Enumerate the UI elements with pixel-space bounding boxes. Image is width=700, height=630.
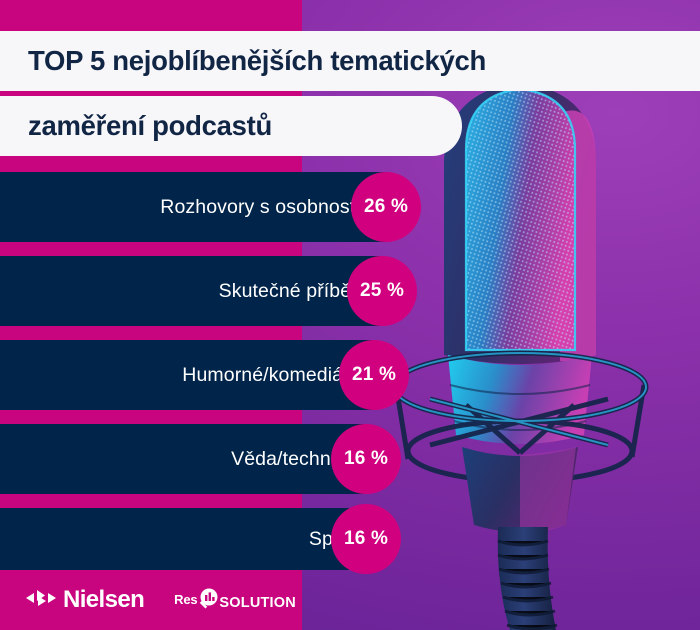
nielsen-wordmark: Nielsen [63,586,144,614]
percentage-value: 16 % [344,528,388,550]
chart-row: Sport16 % [0,508,700,570]
percentage-value: 25 % [360,280,404,302]
bar-track: Humorné/komediální [0,340,374,410]
percentage-bubble: 26 % [351,172,421,242]
bar-track: Sport [0,508,366,570]
chart-row: Rozhovory s osobnostmi26 % [0,172,700,242]
chart-row: Humorné/komediální21 % [0,340,700,410]
footer-logos: Nielsen Res SOLUTION [26,570,296,630]
percentage-bubble: 16 % [331,424,401,494]
bar-track: Věda/technika [0,424,366,494]
percentage-bubble: 25 % [347,256,417,326]
chart-row: Věda/technika16 % [0,424,700,494]
percentage-value: 26 % [364,196,408,218]
ressolution-logo: Res SOLUTION [174,587,296,613]
ressolution-prefix: Res [174,592,197,607]
infographic-root: TOP 5 nejoblíbenějších tematických zaměř… [0,0,700,630]
nielsen-mark-icon [26,589,56,612]
nielsen-logo: Nielsen [26,586,144,614]
chart-row: Skutečné příběhy25 % [0,256,700,326]
ressolution-suffix: SOLUTION [219,595,296,611]
percentage-bubble: 16 % [331,504,401,574]
bar-chart: Rozhovory s osobnostmi26 %Skutečné příbě… [0,0,700,630]
bar-track: Skutečné příběhy [0,256,382,326]
percentage-bubble: 21 % [339,340,409,410]
magnifier-chart-icon [197,587,219,613]
percentage-value: 21 % [352,364,396,386]
bar-track: Rozhovory s osobnostmi [0,172,386,242]
percentage-value: 16 % [344,448,388,470]
